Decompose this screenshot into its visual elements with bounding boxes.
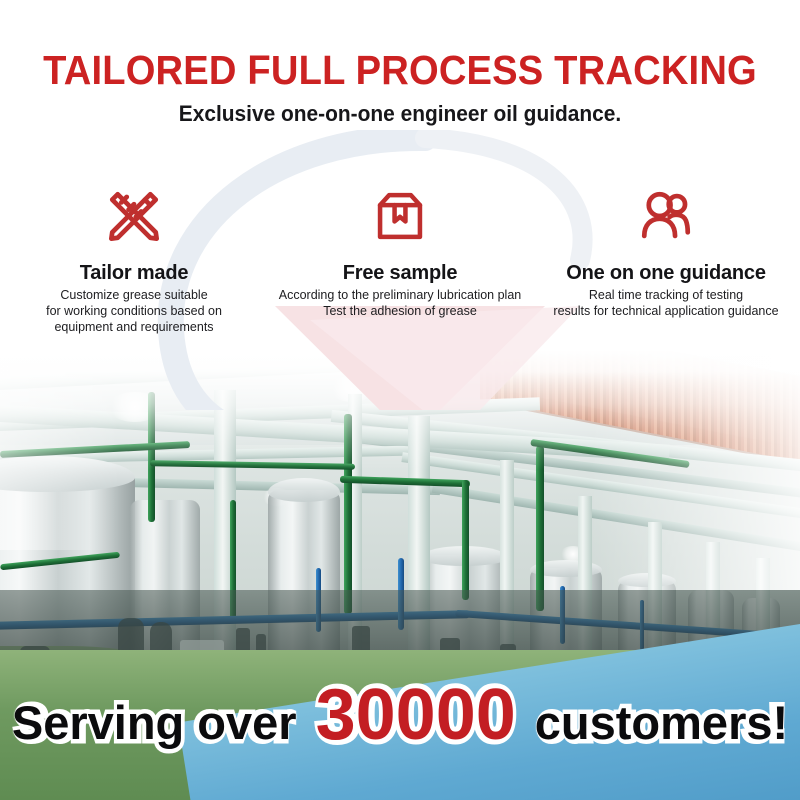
page-subtitle: Exclusive one-on-one engineer oil guidan…: [20, 92, 780, 127]
feature-heading: Tailor made: [1, 261, 267, 285]
feature-description: According to the preliminary lubrication…: [267, 287, 533, 319]
feature-desc-line: for working conditions based on: [46, 304, 222, 318]
banner-number: 30000 30000: [310, 686, 522, 744]
banner-prefix: Serving over Serving over: [12, 694, 297, 752]
header: TAILORED FULL PROCESS TRACKING Exclusive…: [0, 0, 800, 127]
feature-desc-line: results for technical application guidan…: [553, 304, 778, 318]
banner-number-text: 30000: [310, 675, 522, 755]
feature-desc-line: equipment and requirements: [54, 320, 213, 334]
feature-heading: Free sample: [267, 261, 533, 285]
feature-description: Real time tracking of testing results fo…: [533, 287, 799, 319]
page-title: TAILORED FULL PROCESS TRACKING: [28, 0, 772, 92]
feature-item-one-on-one-guidance: One on one guidance Real time tracking o…: [533, 185, 799, 319]
poster: TAILORED FULL PROCESS TRACKING Exclusive…: [0, 0, 800, 800]
customers-banner: Serving over Serving over 30000 30000 cu…: [0, 686, 800, 752]
banner-suffix: customers! customers!: [535, 694, 788, 752]
feature-desc-line: Real time tracking of testing: [589, 288, 743, 302]
feature-desc-line: Customize grease suitable: [60, 288, 207, 302]
feature-desc-line: Test the adhesion of grease: [323, 304, 477, 318]
feature-heading: One on one guidance: [533, 261, 799, 285]
ruler-pencil-icon: [1, 185, 267, 247]
feature-item-tailor-made: Tailor made Customize grease suitable fo…: [1, 185, 267, 335]
two-people-icon: [533, 185, 799, 247]
feature-description: Customize grease suitable for working co…: [1, 287, 267, 335]
banner-suffix-text: customers!: [535, 696, 788, 749]
feature-desc-line: According to the preliminary lubrication…: [279, 288, 522, 302]
feature-item-free-sample: Free sample According to the preliminary…: [267, 185, 533, 319]
feature-list: Tailor made Customize grease suitable fo…: [0, 185, 800, 335]
package-box-icon: [267, 185, 533, 247]
banner-prefix-text: Serving over: [12, 696, 297, 749]
